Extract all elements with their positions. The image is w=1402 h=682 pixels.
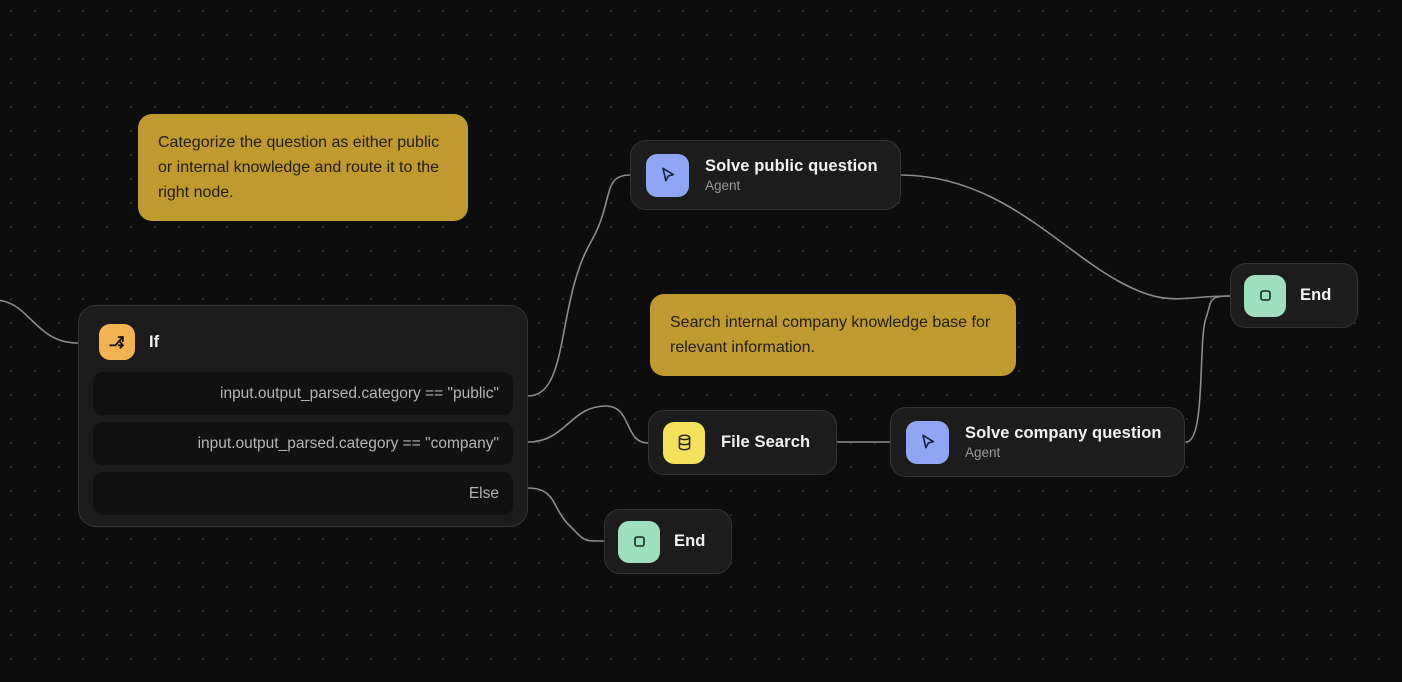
edge-if-else-to-end-bottom [528, 488, 604, 541]
node-label-group: Solve company question Agent [965, 424, 1162, 460]
if-branch-else[interactable]: Else [93, 472, 513, 515]
stop-square-icon [618, 521, 660, 563]
edge-agent-company-to-end-right [1186, 296, 1230, 442]
if-branch-list: input.output_parsed.category == "public"… [93, 372, 513, 515]
node-label-group: End [674, 532, 705, 551]
stop-square-icon [1244, 275, 1286, 317]
node-file-search[interactable]: File Search [648, 410, 837, 475]
cursor-pointer-icon [906, 421, 949, 464]
node-subtitle: Agent [965, 445, 1162, 460]
node-label-group: Solve public question Agent [705, 157, 878, 193]
cursor-pointer-icon [646, 154, 689, 197]
if-node-header: If [93, 320, 513, 360]
sticky-note-search[interactable]: Search internal company knowledge base f… [650, 294, 1016, 376]
edge-if-public-to-agent-public [528, 175, 630, 396]
branch-split-icon [99, 324, 135, 360]
node-solve-company-question[interactable]: Solve company question Agent [890, 407, 1185, 477]
node-if[interactable]: If input.output_parsed.category == "publ… [78, 305, 528, 527]
node-title: Solve public question [705, 157, 878, 176]
workflow-canvas[interactable]: Categorize the question as either public… [0, 0, 1402, 682]
sticky-note-categorize[interactable]: Categorize the question as either public… [138, 114, 468, 221]
database-icon [663, 422, 705, 464]
node-title: End [1300, 286, 1331, 305]
node-label-group: End [1300, 286, 1331, 305]
node-subtitle: Agent [705, 178, 878, 193]
node-end-right[interactable]: End [1230, 263, 1358, 328]
edge-incoming-to-if [0, 300, 78, 343]
node-solve-public-question[interactable]: Solve public question Agent [630, 140, 901, 210]
if-branch-public[interactable]: input.output_parsed.category == "public" [93, 372, 513, 415]
node-label-group: File Search [721, 433, 810, 452]
if-branch-company[interactable]: input.output_parsed.category == "company… [93, 422, 513, 465]
node-end-bottom[interactable]: End [604, 509, 732, 574]
edge-agent-public-to-end-right [900, 175, 1230, 299]
node-title: File Search [721, 433, 810, 452]
node-title: Solve company question [965, 424, 1162, 443]
edge-if-company-to-file-search [528, 406, 648, 443]
if-node-title: If [149, 333, 159, 352]
node-title: End [674, 532, 705, 551]
